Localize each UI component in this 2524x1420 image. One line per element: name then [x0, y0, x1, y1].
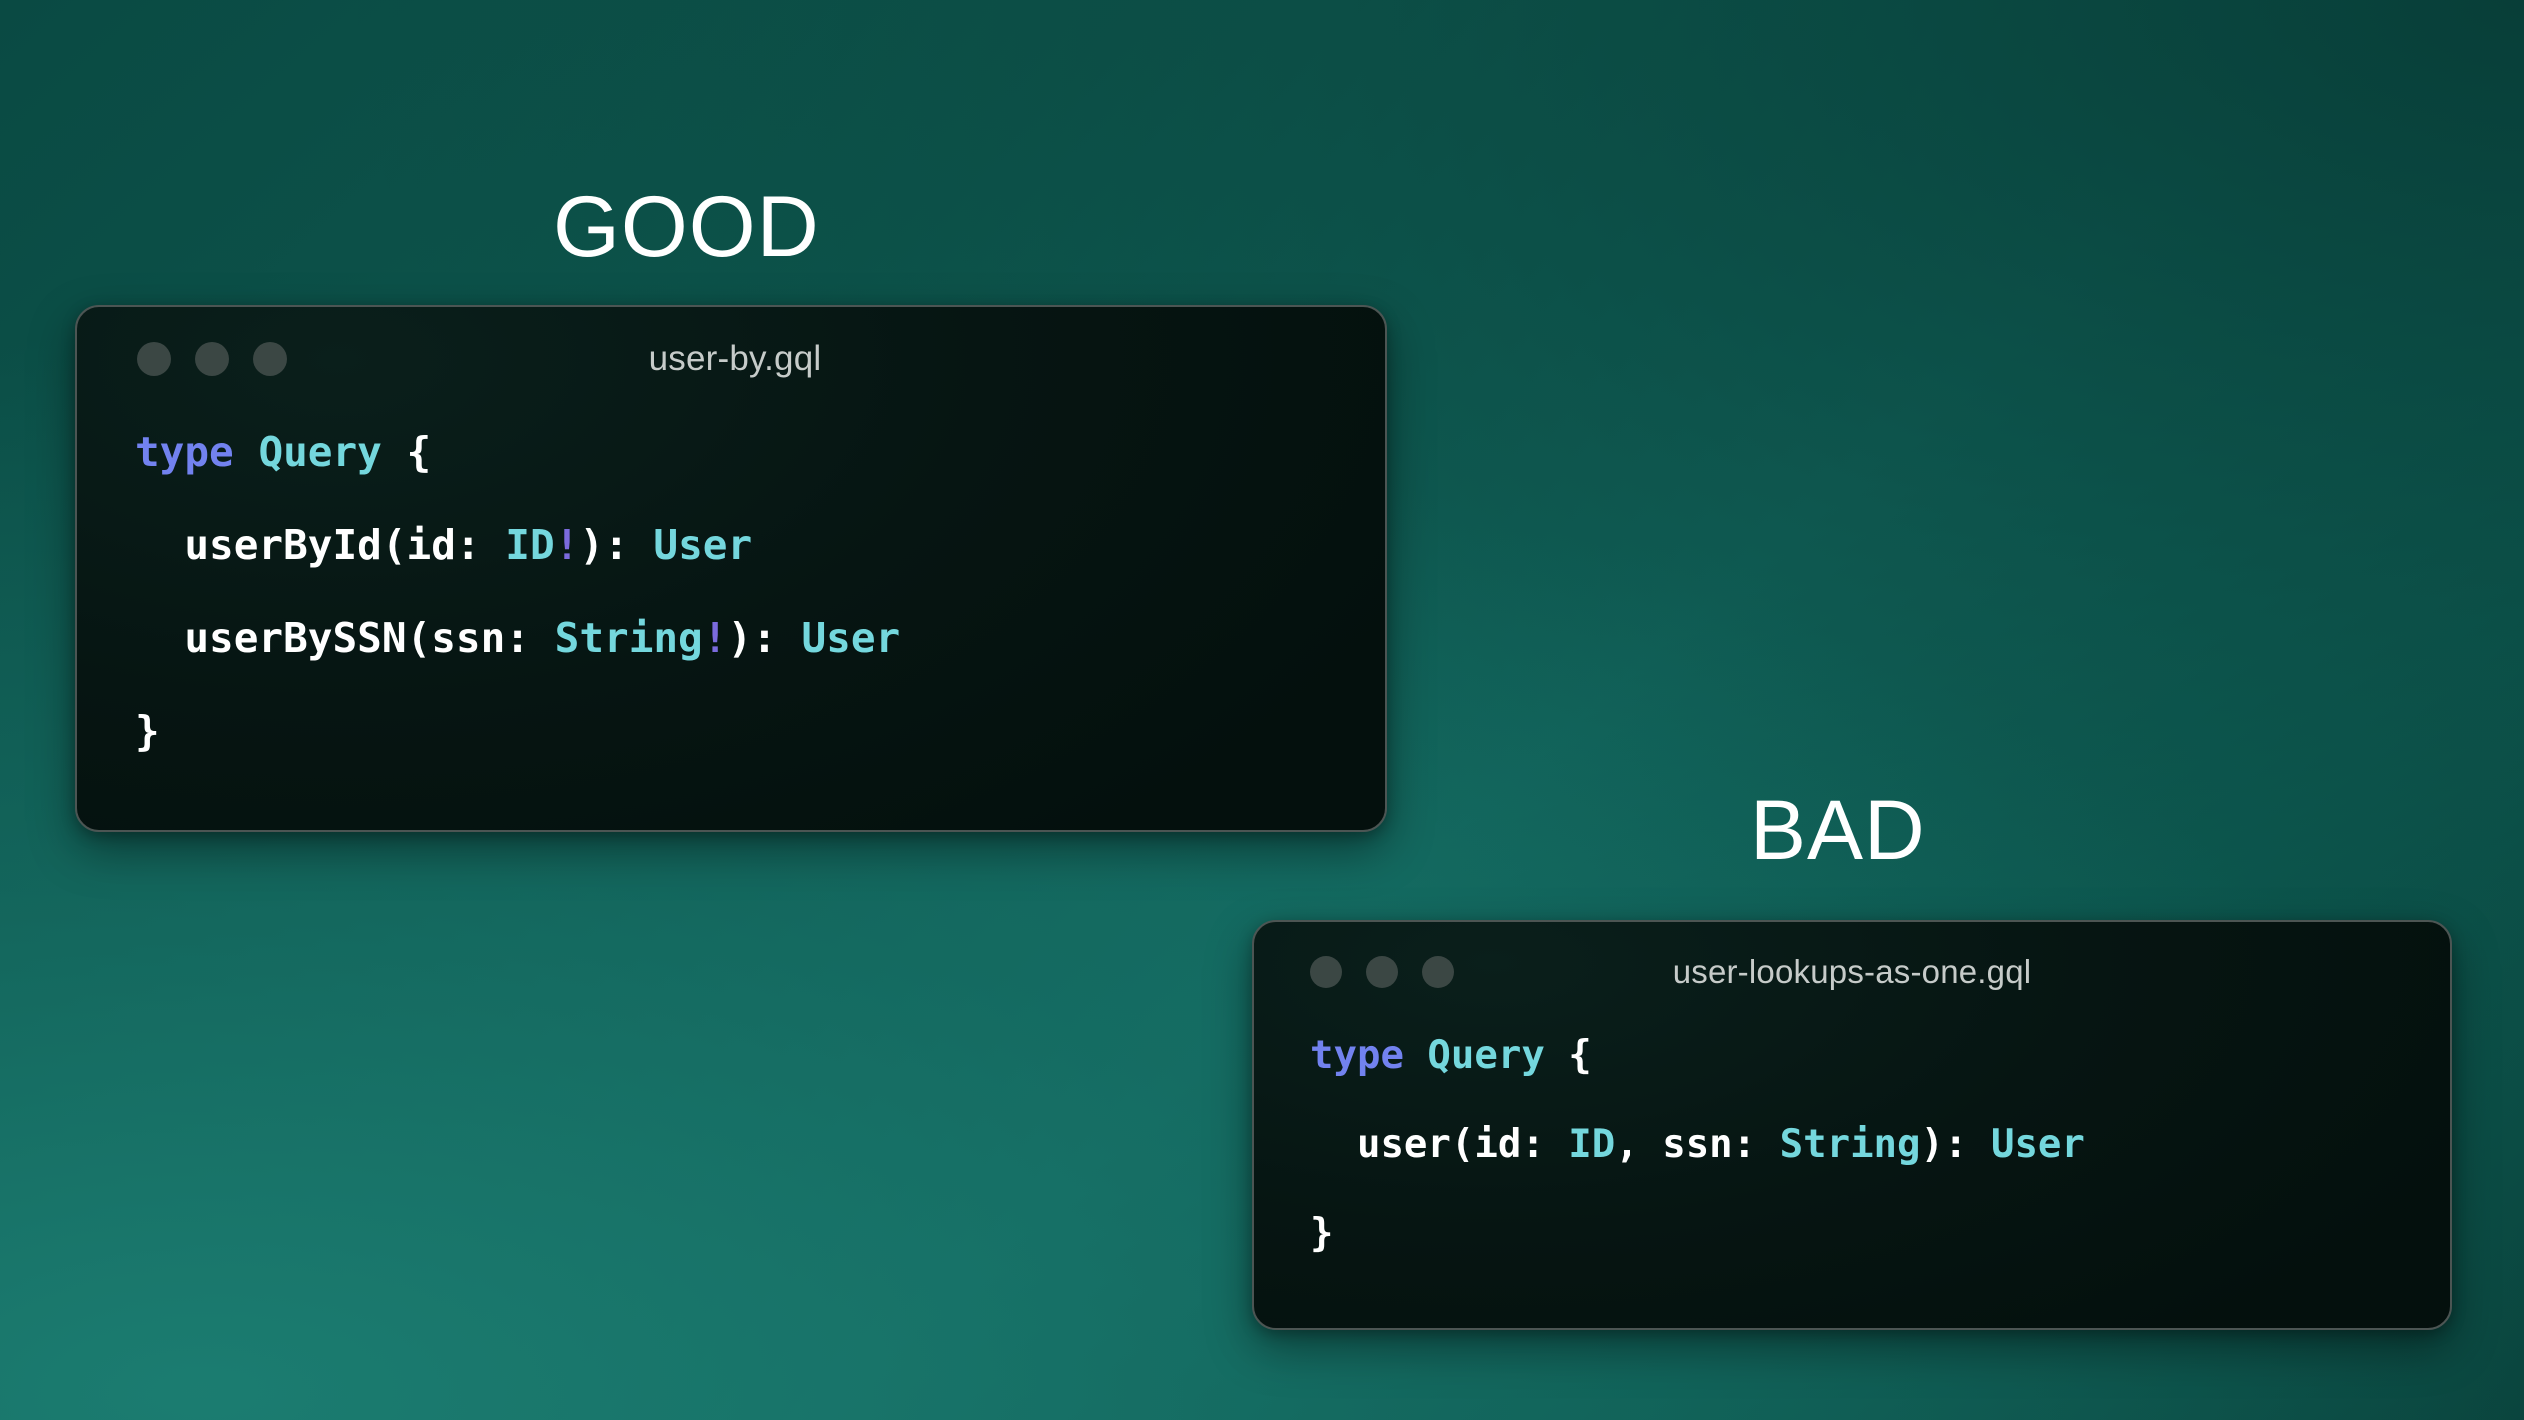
code-token-kw: type [135, 428, 234, 476]
code-token-plain [1404, 1033, 1427, 1078]
code-token-plain: ): [579, 521, 653, 569]
code-token-type: ID [505, 521, 554, 569]
traffic-lights-bad[interactable] [1310, 956, 1454, 988]
code-token-plain: ): [1921, 1122, 1991, 1167]
code-token-kw: type [1310, 1033, 1404, 1078]
code-token-plain: userById(id: [135, 521, 505, 569]
code-token-plain: } [135, 707, 160, 755]
code-token-type: User [1991, 1122, 2085, 1167]
section-label-bad: BAD [1750, 782, 1926, 879]
code-token-plain: { [382, 428, 431, 476]
code-token-plain: } [1310, 1211, 1333, 1256]
code-token-plain: ): [727, 614, 801, 662]
code-token-type: Query [258, 428, 381, 476]
close-dot-icon[interactable] [137, 342, 171, 376]
code-line: type Query { [135, 429, 1385, 476]
code-token-plain: , ssn: [1615, 1122, 1779, 1167]
minimize-dot-icon[interactable] [195, 342, 229, 376]
code-block-bad[interactable]: type Query { user(id: ID, ssn: String): … [1254, 1022, 2450, 1256]
code-token-plain: user(id: [1310, 1122, 1568, 1167]
close-dot-icon[interactable] [1310, 956, 1342, 988]
code-line: } [1310, 1212, 2450, 1256]
code-line: userBySSN(ssn: String!): User [135, 615, 1385, 662]
code-token-plain: userBySSN(ssn: [135, 614, 555, 662]
code-token-type: String [555, 614, 703, 662]
minimize-dot-icon[interactable] [1366, 956, 1398, 988]
code-token-bang: ! [703, 614, 728, 662]
code-token-type: Query [1427, 1033, 1544, 1078]
code-line: userById(id: ID!): User [135, 522, 1385, 569]
window-titlebar-bad: user-lookups-as-one.gql [1254, 922, 2450, 1022]
code-window-good[interactable]: user-by.gql type Query { userById(id: ID… [75, 305, 1387, 832]
code-token-type: User [653, 521, 752, 569]
traffic-lights-good[interactable] [137, 342, 287, 376]
code-token-type: User [802, 614, 901, 662]
code-token-plain [234, 428, 259, 476]
maximize-dot-icon[interactable] [253, 342, 287, 376]
maximize-dot-icon[interactable] [1422, 956, 1454, 988]
code-line: user(id: ID, ssn: String): User [1310, 1123, 2450, 1167]
code-token-type: ID [1568, 1122, 1615, 1167]
window-titlebar-good: user-by.gql [77, 307, 1385, 411]
code-line: } [135, 708, 1385, 755]
code-token-plain: { [1545, 1033, 1592, 1078]
code-line: type Query { [1310, 1034, 2450, 1078]
code-window-bad[interactable]: user-lookups-as-one.gql type Query { use… [1252, 920, 2452, 1330]
code-token-type: String [1780, 1122, 1921, 1167]
section-label-good: GOOD [553, 178, 820, 277]
code-token-bang: ! [555, 521, 580, 569]
code-block-good[interactable]: type Query { userById(id: ID!): User use… [77, 411, 1385, 755]
